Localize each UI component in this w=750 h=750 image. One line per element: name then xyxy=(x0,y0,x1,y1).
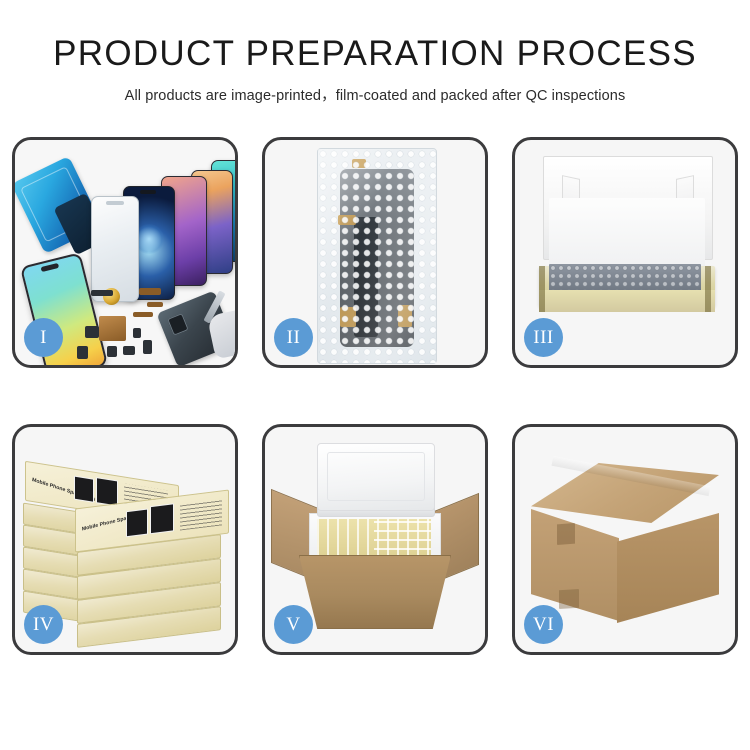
carton-face-right-icon xyxy=(617,513,719,623)
step-badge-6: VI xyxy=(524,605,563,644)
step-badge-1: I xyxy=(24,318,63,357)
process-step-panel-6[interactable]: VI xyxy=(512,424,738,655)
process-step-panel-5[interactable]: V xyxy=(262,424,488,655)
carton-body-icon xyxy=(299,555,451,629)
page-header: PRODUCT PREPARATION PROCESS All products… xyxy=(0,0,750,105)
step-badge-4: IV xyxy=(24,605,63,644)
bubble-bag-icon xyxy=(317,148,437,364)
process-step-panel-1[interactable]: I xyxy=(12,137,238,368)
step-badge-5: V xyxy=(274,605,313,644)
page-title: PRODUCT PREPARATION PROCESS xyxy=(0,36,750,73)
step-badge-2: II xyxy=(274,318,313,357)
process-step-panel-3[interactable]: III xyxy=(512,137,738,368)
inner-boxes-icon xyxy=(317,519,431,559)
step-badge-3: III xyxy=(524,318,563,357)
page-subtitle: All products are image-printed，film-coat… xyxy=(0,84,750,105)
process-step-grid: I II xyxy=(12,137,739,687)
process-step-panel-4[interactable]: Mobile Phone Spare Parts Mobile Phone Sp… xyxy=(12,424,238,655)
process-step-panel-2[interactable]: II xyxy=(262,137,488,368)
foam-lid-open-icon xyxy=(317,443,435,511)
screen-glass-icon xyxy=(91,196,139,302)
chip-grid-icon xyxy=(99,316,126,341)
foam-sheet-icon xyxy=(549,198,705,268)
